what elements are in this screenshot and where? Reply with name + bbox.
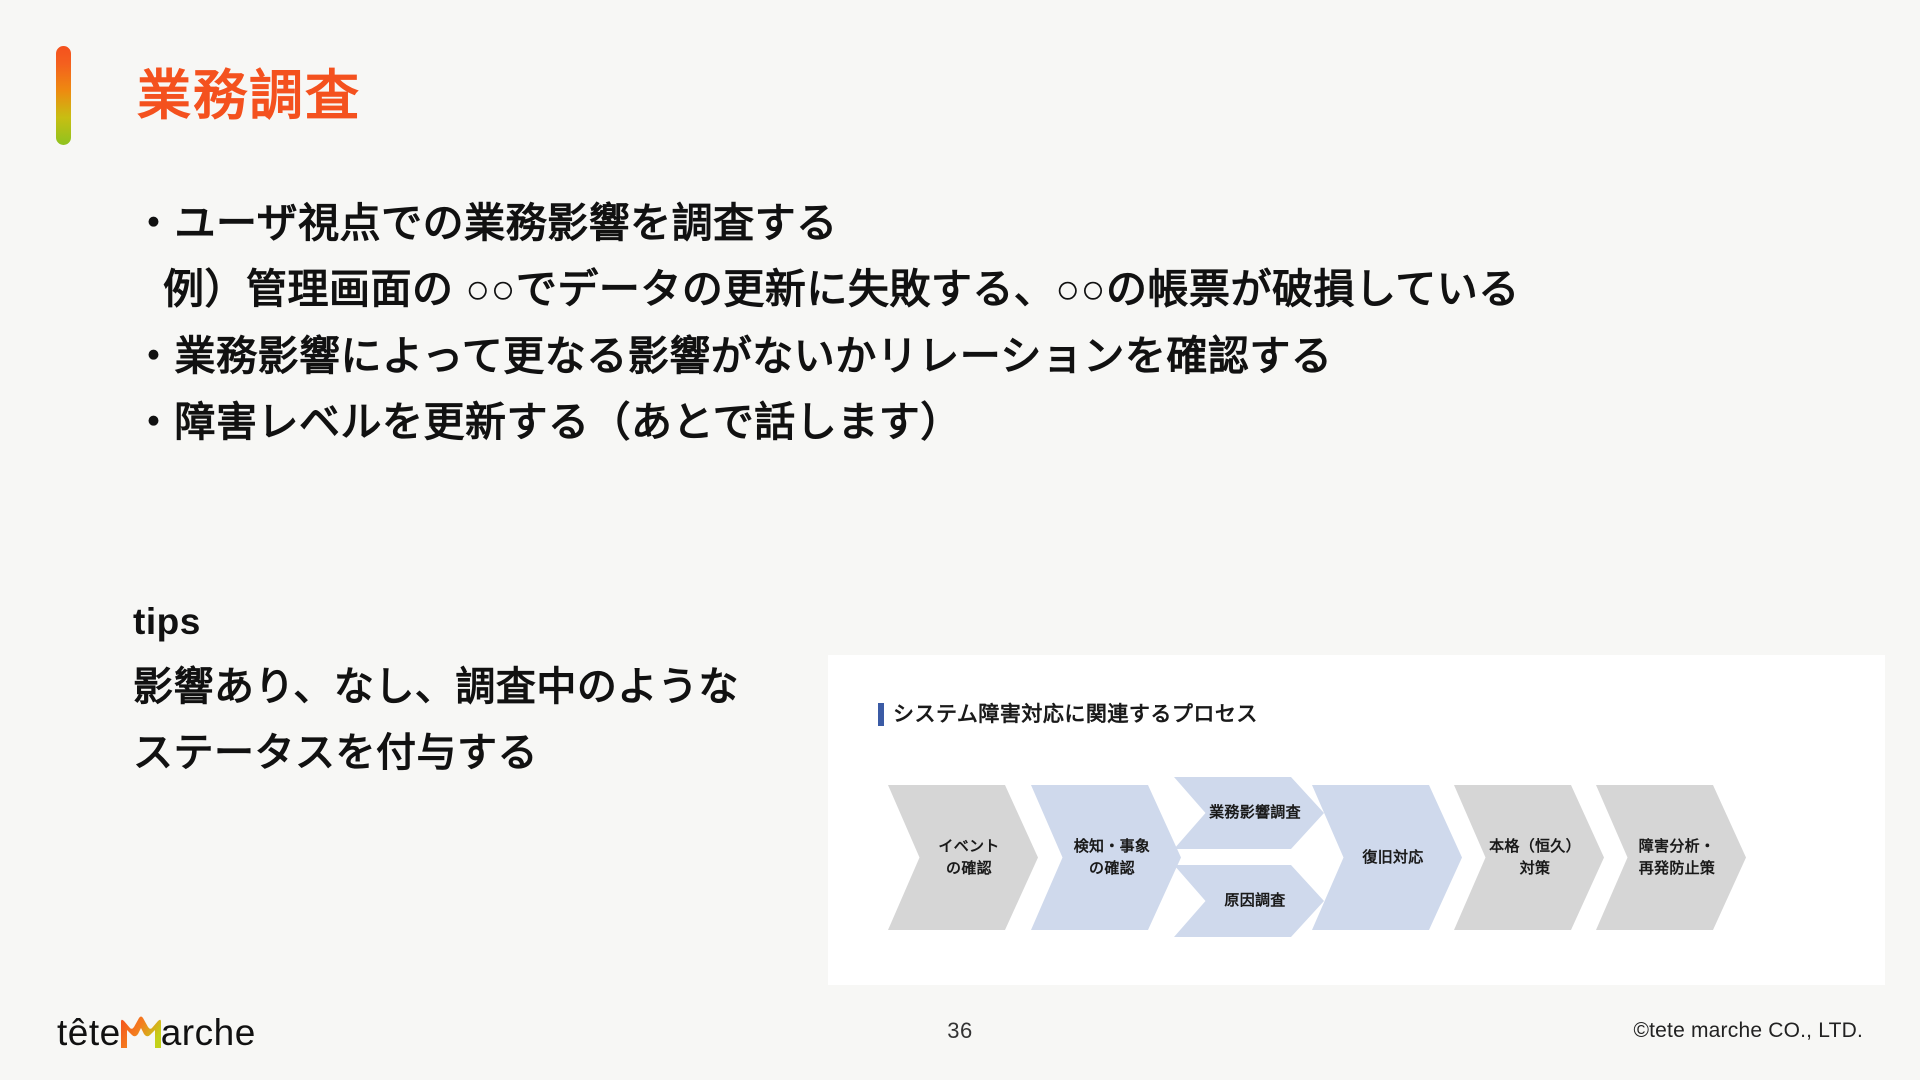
process-step-7: 障害分析・再発防止策 xyxy=(1596,785,1746,930)
process-step-2: 検知・事象の確認 xyxy=(1031,785,1181,930)
process-step-label: 原因調査 xyxy=(1212,890,1285,912)
body-line-2-example: 例）管理画面の ○○でデータの更新に失敗する、○○の帳票が破損している xyxy=(133,256,1693,322)
tips-section: tips 影響あり、なし、調査中のような ステータスを付与する xyxy=(133,590,773,786)
process-step-label: 障害分析・再発防止策 xyxy=(1627,836,1716,880)
copyright-notice: ©tete marche CO., LTD. xyxy=(1633,1019,1863,1043)
slide-header: 業務調査 xyxy=(56,46,361,145)
process-step-label: 本格（恒久）対策 xyxy=(1477,836,1581,880)
page-number: 36 xyxy=(0,1018,1920,1044)
process-step-label: 業務影響調査 xyxy=(1197,802,1301,824)
process-step-6: 本格（恒久）対策 xyxy=(1454,785,1604,930)
body-line-4: ・障害レベルを更新する（あとで話します） xyxy=(133,389,1693,455)
process-diagram-card: システム障害対応に関連するプロセス イベントの確認検知・事象の確認業務影響調査原… xyxy=(828,655,1885,985)
page-title: 業務調査 xyxy=(137,69,361,123)
diagram-header: システム障害対応に関連するプロセス xyxy=(878,703,1258,726)
process-step-label: 検知・事象の確認 xyxy=(1062,836,1151,880)
diagram-title: システム障害対応に関連するプロセス xyxy=(893,704,1258,725)
process-step-5: 復旧対応 xyxy=(1312,785,1462,930)
process-chevron-flow: イベントの確認検知・事象の確認業務影響調査原因調査復旧対応本格（恒久）対策障害分… xyxy=(888,785,1848,930)
process-step-label: イベントの確認 xyxy=(926,836,999,880)
body-content: ・ユーザ視点での業務影響を調査する 例）管理画面の ○○でデータの更新に失敗する… xyxy=(133,190,1693,456)
tips-line-2: ステータスを付与する xyxy=(133,720,773,786)
title-accent-bar-icon xyxy=(56,46,71,145)
process-step-1: イベントの確認 xyxy=(888,785,1038,930)
diagram-accent-bar-icon xyxy=(878,703,884,726)
process-step-4: 原因調査 xyxy=(1174,865,1324,937)
process-step-label: 復旧対応 xyxy=(1350,847,1423,869)
tips-heading: tips xyxy=(133,590,773,654)
body-line-3: ・業務影響によって更なる影響がないかリレーションを確認する xyxy=(133,323,1693,389)
process-step-3: 業務影響調査 xyxy=(1174,777,1324,849)
body-line-1: ・ユーザ視点での業務影響を調査する xyxy=(133,190,1693,256)
tips-line-1: 影響あり、なし、調査中のような xyxy=(133,654,773,720)
